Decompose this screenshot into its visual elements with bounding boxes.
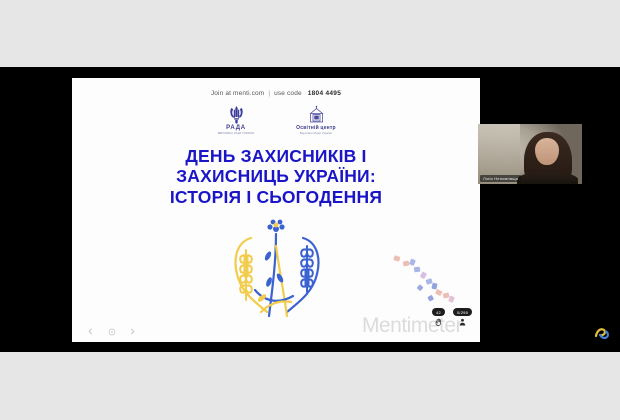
app-corner-logo-icon <box>594 326 610 342</box>
rada-logo-subtitle: ВЕРХОВНА РАДА УКРАЇНИ <box>218 132 255 135</box>
slide-title-line-2: ЗАХИСНИЦЬ УКРАЇНИ: <box>98 166 454 186</box>
reaction-pills: 42 0/295 <box>432 308 472 326</box>
presentation-slide[interactable]: Join at menti.com | use code 1804 4495 <box>72 78 480 342</box>
slide-nav-controls[interactable] <box>86 327 137 336</box>
reaction-pill-label-0[interactable]: 42 <box>432 308 445 316</box>
circle-dot-icon[interactable] <box>107 327 116 336</box>
wheat-trident-emblem-illustration <box>217 216 335 328</box>
institution-building-icon <box>307 104 326 124</box>
menti-separator: | <box>268 90 270 97</box>
osvitniy-tsentr-logo-subtitle: Верховної Ради України <box>300 132 332 135</box>
menti-join-prefix: Join at menti.com <box>211 90 265 97</box>
slide-title: ДЕНЬ ЗАХИСНИКІВ І ЗАХИСНИЦЬ УКРАЇНИ: ІСТ… <box>72 146 480 207</box>
reaction-pill-label-1[interactable]: 0/295 <box>453 308 472 316</box>
presenter-face <box>535 138 559 165</box>
rada-logo: РАДА ВЕРХОВНА РАДА УКРАЇНИ <box>207 104 265 135</box>
rada-logo-name: РАДА <box>226 125 246 131</box>
chevron-left-icon[interactable] <box>86 327 95 336</box>
presenter-name-tag: Лілія Непомняща <box>480 175 521 182</box>
reaction-pill-group-0[interactable]: 42 <box>432 308 445 326</box>
presenter-shoulders <box>517 172 578 184</box>
presenter-webcam-tile[interactable]: Лілія Непомняща <box>478 124 582 184</box>
menti-use-code-label: use code <box>274 90 302 97</box>
menti-join-line: Join at menti.com | use code 1804 4495 <box>72 90 480 97</box>
presenter-figure <box>524 132 572 184</box>
reaction-pill-group-1[interactable]: 0/295 <box>453 308 472 326</box>
video-stage: Join at menti.com | use code 1804 4495 <box>0 67 620 352</box>
slide-title-line-3: ІСТОРІЯ І СЬОГОДЕННЯ <box>98 187 454 207</box>
osvitniy-tsentr-logo: Освітній центр Верховної Ради України <box>287 104 345 135</box>
hand-raise-icon[interactable] <box>435 318 443 326</box>
ukraine-trident-icon <box>228 104 245 124</box>
osvitniy-tsentr-logo-name: Освітній центр <box>296 125 336 131</box>
logo-row: РАДА ВЕРХОВНА РАДА УКРАЇНИ <box>72 104 480 135</box>
person-count-icon[interactable] <box>458 318 466 326</box>
desktop-background: Join at menti.com | use code 1804 4495 <box>0 0 620 420</box>
menti-code: 1804 4495 <box>308 90 341 97</box>
slide-title-line-1: ДЕНЬ ЗАХИСНИКІВ І <box>98 146 454 166</box>
confetti-decoration <box>390 252 476 314</box>
chevron-right-icon[interactable] <box>128 327 137 336</box>
